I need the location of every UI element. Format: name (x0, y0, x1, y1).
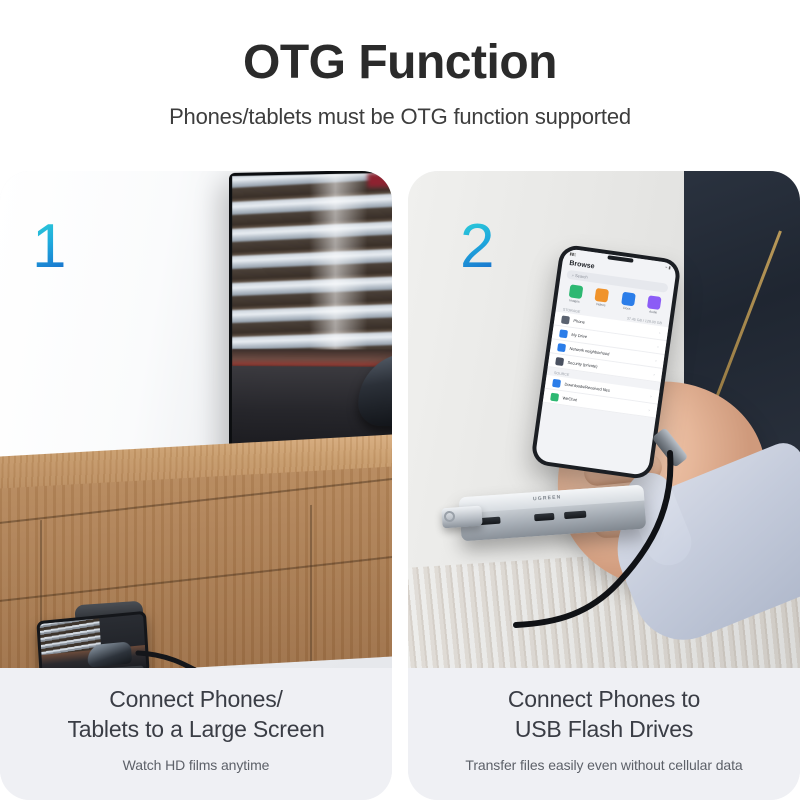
caption-sub-1: Watch HD films anytime (123, 757, 270, 773)
header: OTG Function Phones/tablets must be OTG … (0, 0, 800, 130)
caption-title-2: Connect Phones to USB Flash Drives (508, 685, 700, 745)
list-item-label: WeChat (562, 395, 577, 402)
hub-port (534, 513, 554, 521)
caption-title-2-line2: USB Flash Drives (508, 715, 700, 745)
panel-step-2: ▮▮▯ ⌁ ▮ Browse ⌕ Search Images (408, 171, 800, 800)
status-left: ▮▮▯ (569, 251, 576, 257)
grandstand-red-banner (367, 172, 392, 188)
panel-row: S VM 9 (0, 171, 800, 800)
category-label: Docs (623, 306, 631, 311)
category-videos[interactable]: Videos (594, 288, 609, 308)
tv-screen: S VM 9 (232, 171, 392, 469)
phone-landscape-screen (40, 614, 147, 668)
caption-step-2: Connect Phones to USB Flash Drives Trans… (408, 668, 800, 800)
page-title: OTG Function (0, 38, 800, 88)
step-number-2: 2 (460, 216, 494, 278)
list-item-label: Phone (573, 318, 585, 325)
phone-landscape (36, 611, 149, 668)
step-number-1: 1 (32, 216, 66, 278)
usb-c-cable (498, 441, 798, 668)
category-label: Images (569, 298, 580, 303)
status-right: ⌁ ▮ (665, 264, 671, 270)
list-item-label: Downloads/Received files (564, 381, 610, 392)
list-item-label: Security (private) (567, 360, 598, 369)
category-images[interactable]: Images (568, 284, 583, 304)
drawer-divider (0, 554, 392, 603)
category-docs[interactable]: Docs (620, 292, 635, 312)
hub-port (564, 511, 586, 520)
chevron-right-icon: › (657, 344, 659, 349)
television: S VM 9 (229, 171, 392, 478)
chevron-right-icon: › (655, 358, 657, 363)
search-placeholder: Search (575, 273, 588, 280)
caption-title-1: Connect Phones/ Tablets to a Large Scree… (67, 685, 324, 745)
category-audio[interactable]: Audio (646, 295, 661, 315)
category-label: Videos (596, 302, 606, 307)
caption-step-1: Connect Phones/ Tablets to a Large Scree… (0, 668, 392, 800)
caption-title-1-line1: Connect Phones/ (67, 685, 324, 715)
panel-step-1: S VM 9 (0, 171, 392, 800)
chevron-right-icon: › (648, 407, 650, 412)
category-label: Audio (649, 310, 658, 315)
drawer-seam (310, 505, 312, 661)
product-infographic: OTG Function Phones/tablets must be OTG … (0, 0, 800, 800)
list-item-label: Network neighborhood (569, 346, 610, 357)
list-item-label: My Drive (571, 332, 587, 339)
chevron-right-icon: › (659, 330, 661, 335)
page-subtitle: Phones/tablets must be OTG function supp… (0, 104, 800, 130)
caption-title-1-line2: Tablets to a Large Screen (67, 715, 324, 745)
caption-title-2-line1: Connect Phones to (508, 685, 700, 715)
chevron-right-icon: › (653, 372, 655, 377)
grandstand-glare (309, 173, 367, 355)
chevron-right-icon: › (650, 394, 652, 399)
caption-sub-2: Transfer files easily even without cellu… (465, 757, 742, 773)
